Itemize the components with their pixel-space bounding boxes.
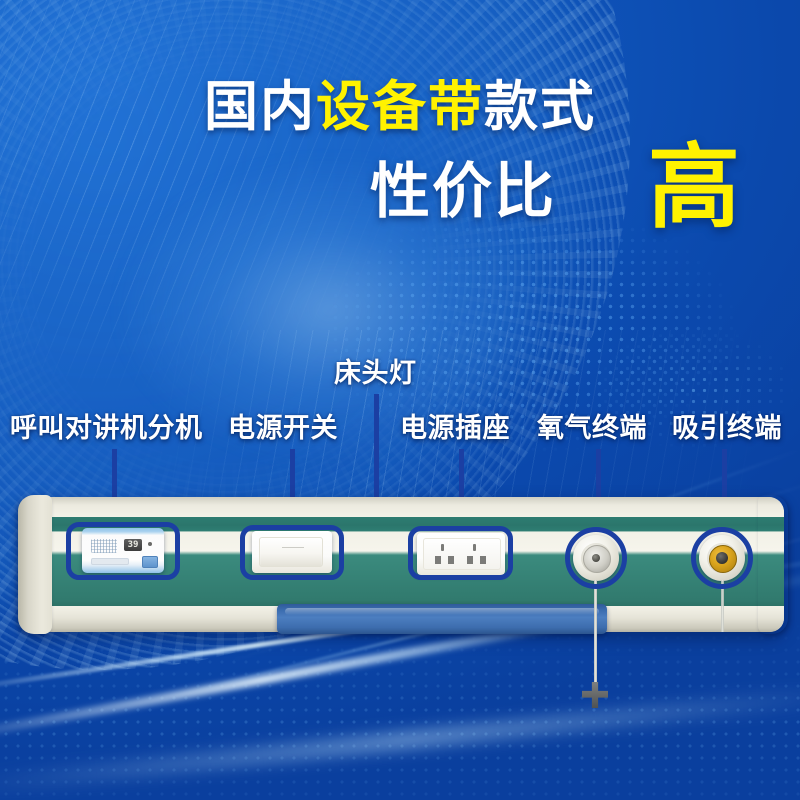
callout-label-power-socket: 电源插座 [400, 415, 510, 442]
callout-label-oxygen: 氧气终端 [537, 415, 647, 442]
callout-label-intercom: 呼叫对讲机分机 [10, 415, 203, 442]
highlight-circle-suction [691, 527, 753, 589]
callout-label-bed-lamp: 床头灯 [334, 360, 417, 387]
panel-top-edge [22, 497, 784, 517]
equipment-rail [277, 604, 607, 634]
highlight-box-power-socket [408, 526, 513, 580]
callout-label-power-switch: 电源开关 [228, 415, 338, 442]
headline-value-highlight: 高 [648, 142, 740, 234]
highlight-box-power-switch [240, 525, 344, 580]
headline-block: 国内设备带款式 性价比 高 [0, 80, 800, 250]
highlight-box-intercom [66, 522, 180, 580]
callout-label-suction: 吸引终端 [672, 415, 782, 442]
headline-line-2: 性价比 高 [0, 158, 800, 250]
panel-left-endcap [18, 495, 52, 634]
headline-text-highlight: 设备带 [316, 77, 484, 137]
headline-text-part1: 国内 [204, 77, 316, 137]
panel-right-endcap [758, 495, 788, 634]
highlight-circle-oxygen [565, 527, 627, 589]
headline-line-1: 国内设备带款式 [0, 80, 800, 134]
rail-highlight [285, 608, 599, 615]
poster-canvas: 国内设备带款式 性价比 高 呼叫对讲机分机 电源开关 床头灯 电源插座 氧气终端… [0, 0, 800, 800]
headline-value-text: 性价比 [370, 162, 556, 222]
oxygen-pull-cord[interactable] [594, 580, 597, 686]
headline-text-part3: 款式 [484, 77, 596, 137]
